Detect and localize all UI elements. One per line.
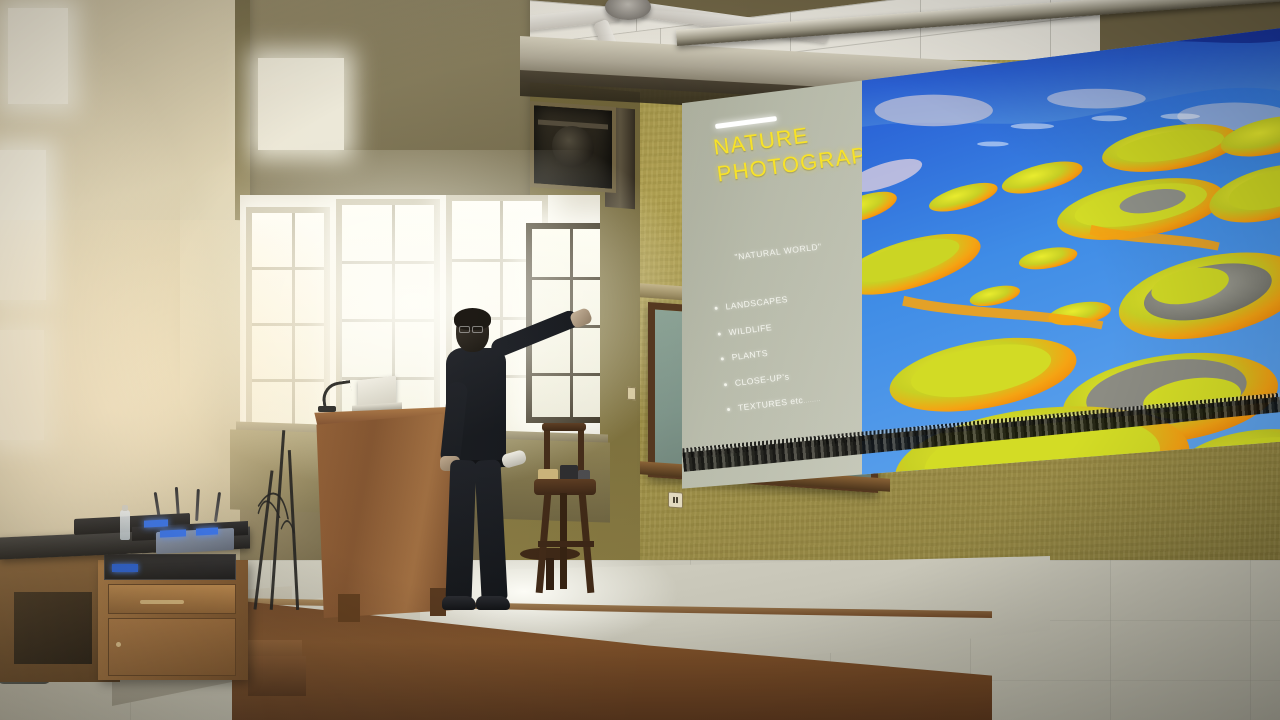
left-window-middle — [0, 150, 46, 300]
amplifier-display — [112, 564, 138, 572]
stage-step — [248, 656, 306, 696]
cabinet-drawer[interactable] — [108, 584, 236, 614]
water-bottle — [120, 510, 130, 540]
light-switch[interactable] — [627, 387, 636, 401]
led-display — [160, 529, 186, 537]
list-item: TEXTURES etc........ — [726, 393, 821, 414]
presenter-shoe — [476, 596, 510, 610]
projected-slide: NATURE PHOTOGRAPHY "NATURAL WORLD" LANDS… — [682, 28, 1280, 498]
list-item: PLANTS — [720, 342, 815, 363]
cabinet-door[interactable] — [108, 618, 236, 676]
glasses-icon — [459, 326, 483, 331]
presenter-legs — [446, 460, 508, 610]
water-bottle-cap — [122, 505, 128, 511]
cabinet-door-knob[interactable] — [116, 642, 121, 647]
vent-fan-blades — [552, 125, 594, 170]
slide-text-panel: NATURE PHOTOGRAPHY "NATURAL WORLD" LANDS… — [682, 28, 882, 498]
podium-foot — [338, 594, 360, 622]
slide-bullet-list: LANDSCAPES WILDLIFE PLANTS CLOSE-UP's TE… — [714, 292, 823, 430]
presenter — [420, 300, 600, 620]
aerial-nature-photograph — [862, 28, 1280, 498]
led-display — [196, 527, 218, 535]
exhaust-fan-vent — [530, 101, 616, 193]
lecture-hall-photo: NATURE PHOTOGRAPHY "NATURAL WORLD" LANDS… — [0, 0, 1280, 720]
list-item: WILDLIFE — [717, 317, 812, 338]
list-item: LANDSCAPES — [714, 292, 809, 313]
presenter-shoe — [442, 596, 476, 610]
slide-subtitle: "NATURAL WORLD" — [734, 241, 822, 262]
power-socket[interactable] — [668, 491, 683, 508]
list-item: CLOSE-UP's — [723, 367, 818, 388]
projection-screen[interactable]: NATURE PHOTOGRAPHY "NATURAL WORLD" LANDS… — [682, 28, 1280, 498]
microphone-base — [318, 406, 336, 412]
left-window-upper — [8, 8, 68, 104]
desk-open-shelf — [14, 592, 92, 664]
slide-photo — [862, 28, 1280, 498]
cabinet-drawer-handle[interactable] — [140, 600, 184, 604]
led-display — [144, 519, 168, 527]
blind-light-patch — [258, 58, 344, 150]
left-window-lower — [0, 330, 44, 440]
